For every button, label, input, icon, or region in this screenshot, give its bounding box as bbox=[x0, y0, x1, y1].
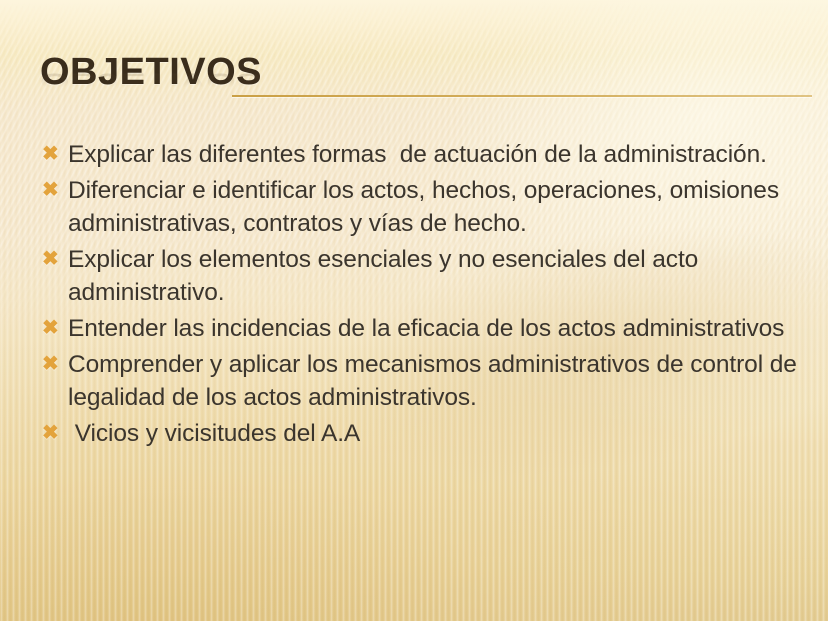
list-item: ✖ Entender las incidencias de la eficaci… bbox=[38, 312, 798, 345]
cross-bullet-icon: ✖ bbox=[38, 243, 68, 276]
title-underline-rule bbox=[232, 95, 812, 97]
cross-bullet-icon: ✖ bbox=[38, 312, 68, 345]
cross-bullet-icon: ✖ bbox=[38, 174, 68, 207]
slide-title-block: OBJETIVOS OBJETIVOS bbox=[40, 49, 812, 107]
list-item: ✖ Comprender y aplicar los mecanismos ad… bbox=[38, 348, 798, 414]
list-item-text: Vicios y vicisitudes del A.A bbox=[68, 417, 798, 450]
list-item: ✖ Explicar los elementos esenciales y no… bbox=[38, 243, 798, 309]
list-item: ✖ Diferenciar e identificar los actos, h… bbox=[38, 174, 798, 240]
list-item-text: Explicar los elementos esenciales y no e… bbox=[68, 243, 798, 309]
list-item-text: Entender las incidencias de la eficacia … bbox=[68, 312, 798, 345]
list-item: ✖ Explicar las diferentes formas de actu… bbox=[38, 138, 798, 171]
list-item-text: Comprender y aplicar los mecanismos admi… bbox=[68, 348, 798, 414]
list-item-text: Diferenciar e identificar los actos, hec… bbox=[68, 174, 798, 240]
slide-title: OBJETIVOS bbox=[40, 49, 262, 95]
list-item-text: Explicar las diferentes formas de actuac… bbox=[68, 138, 798, 171]
list-item: ✖ Vicios y vicisitudes del A.A bbox=[38, 417, 798, 450]
cross-bullet-icon: ✖ bbox=[38, 138, 68, 171]
cross-bullet-icon: ✖ bbox=[38, 417, 68, 450]
presentation-slide: OBJETIVOS OBJETIVOS ✖ Explicar las difer… bbox=[0, 0, 828, 621]
objectives-bullet-list: ✖ Explicar las diferentes formas de actu… bbox=[38, 138, 798, 453]
cross-bullet-icon: ✖ bbox=[38, 348, 68, 381]
